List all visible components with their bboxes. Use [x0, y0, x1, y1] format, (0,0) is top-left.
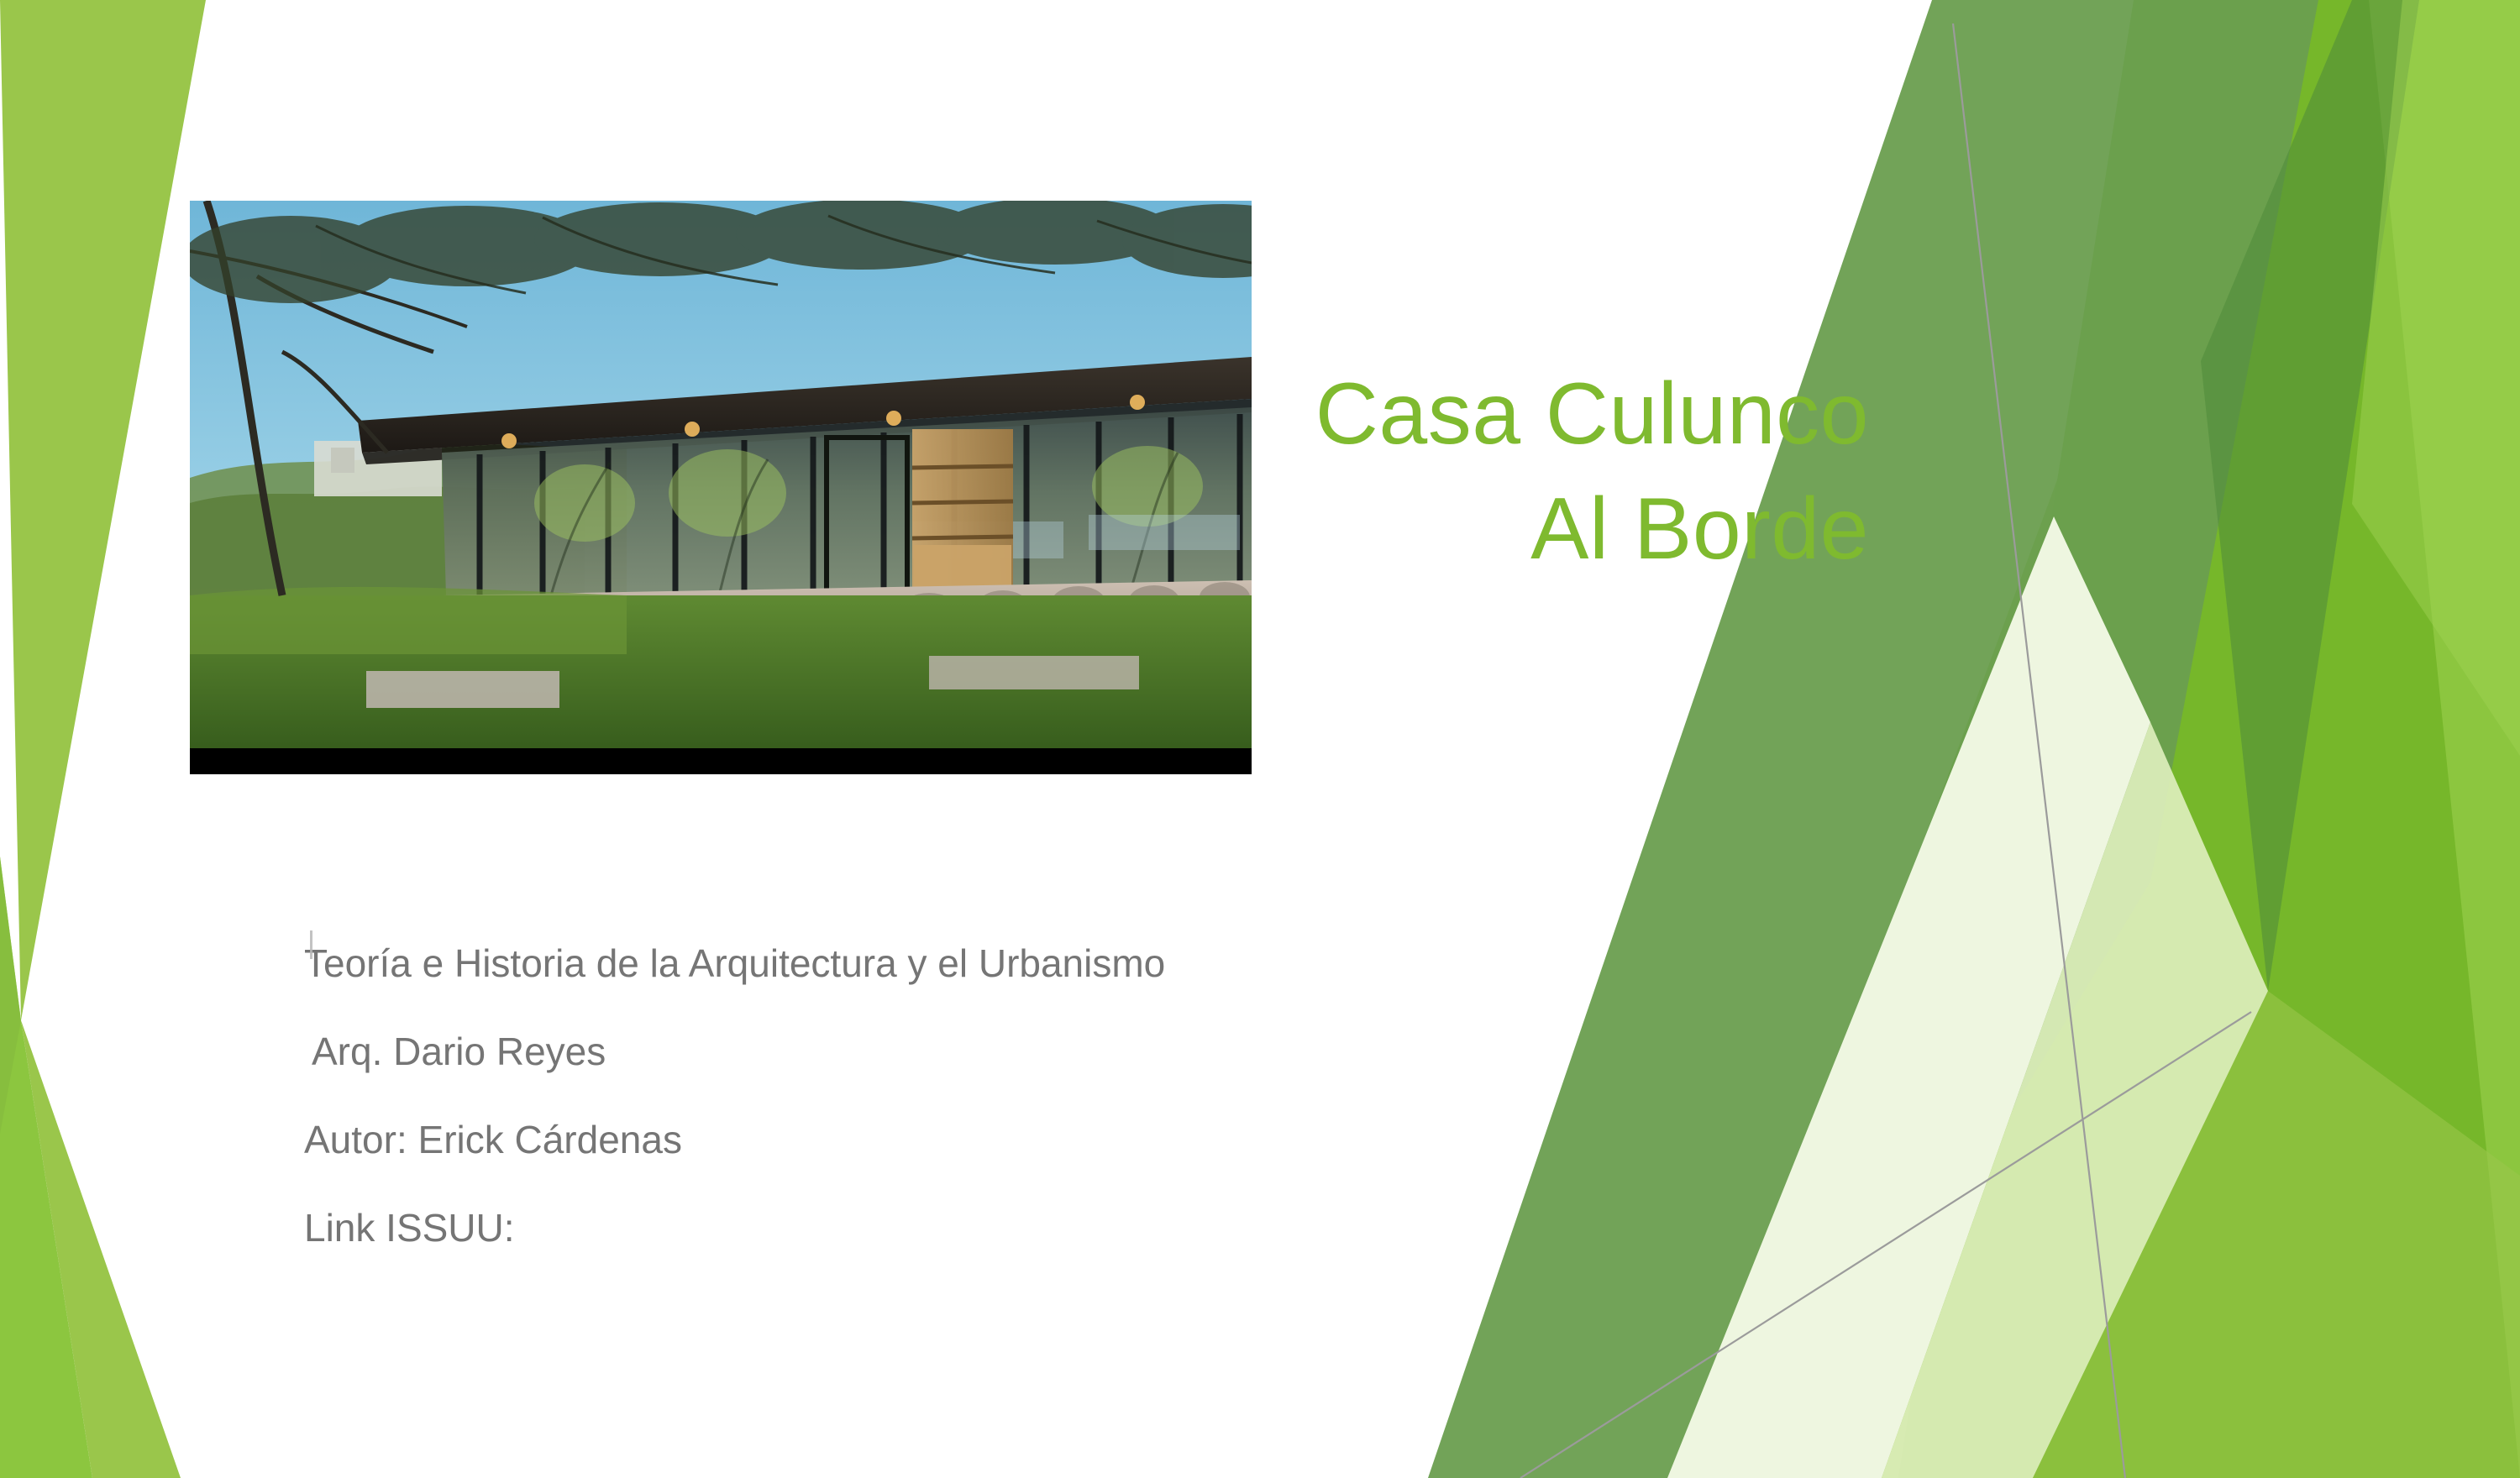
right-facet-deep: [2201, 0, 2419, 991]
right-facet-lower-tint: [2033, 991, 2520, 1478]
title-line-2: Al Borde: [1092, 472, 1869, 587]
left-facet-upper: [0, 0, 206, 1020]
slide-subtitle-body: Teoría e Historia de la Arquitectura y e…: [304, 920, 1480, 1272]
left-facet-lower: [0, 857, 92, 1478]
title-line-1: Casa Culunco: [1092, 357, 1869, 472]
left-facet-lower-outer: [21, 1020, 181, 1478]
body-line-link: Link ISSUU:: [304, 1184, 1480, 1272]
right-facet-olive: [1428, 0, 2318, 1478]
right-facet-vivid: [1898, 0, 2520, 1478]
hairline-ascending: [1520, 1012, 2251, 1478]
slide-title: Casa Culunco Al Borde: [1092, 357, 1869, 588]
right-facet-pale: [1882, 722, 2268, 1478]
stray-mark: [310, 930, 312, 959]
presentation-slide: Casa Culunco Al Borde Teoría e Historia …: [0, 0, 2520, 1478]
right-facet-base: [1688, 0, 2520, 1478]
hairline-descending: [1953, 24, 2125, 1478]
right-facet-mint: [1667, 516, 2150, 1478]
body-line-author: Autor: Erick Cárdenas: [304, 1096, 1480, 1184]
body-line-course: Teoría e Historia de la Arquitectura y e…: [304, 920, 1480, 1008]
right-facet-light-overlay: [2352, 0, 2520, 756]
body-line-professor: Arq. Dario Reyes: [304, 1008, 1480, 1096]
left-facet-shadow: [0, 857, 21, 1134]
